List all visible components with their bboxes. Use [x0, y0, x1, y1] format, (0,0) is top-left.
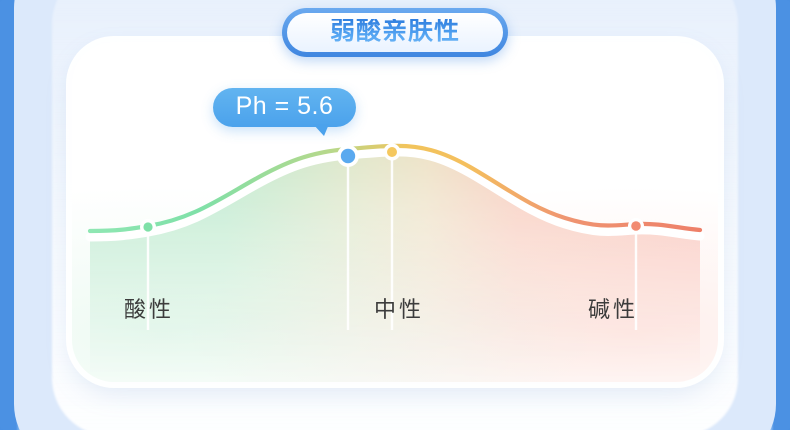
- card-background-wash: [72, 42, 718, 382]
- tooltip-pointer-icon: [313, 124, 329, 136]
- axis-label-alkaline: 碱性: [588, 292, 638, 324]
- title-badge-inner: 弱酸亲肤性: [287, 13, 503, 52]
- ph-value-label: Ph = 5.6: [236, 94, 334, 121]
- axis-label-acidic: 酸性: [124, 292, 174, 324]
- content-card: [72, 42, 718, 382]
- axis-label-neutral: 中性: [374, 292, 424, 324]
- page-title: 弱酸亲肤性: [330, 19, 460, 46]
- ph-value-tooltip: Ph = 5.6: [213, 88, 356, 127]
- title-badge: 弱酸亲肤性: [282, 8, 508, 57]
